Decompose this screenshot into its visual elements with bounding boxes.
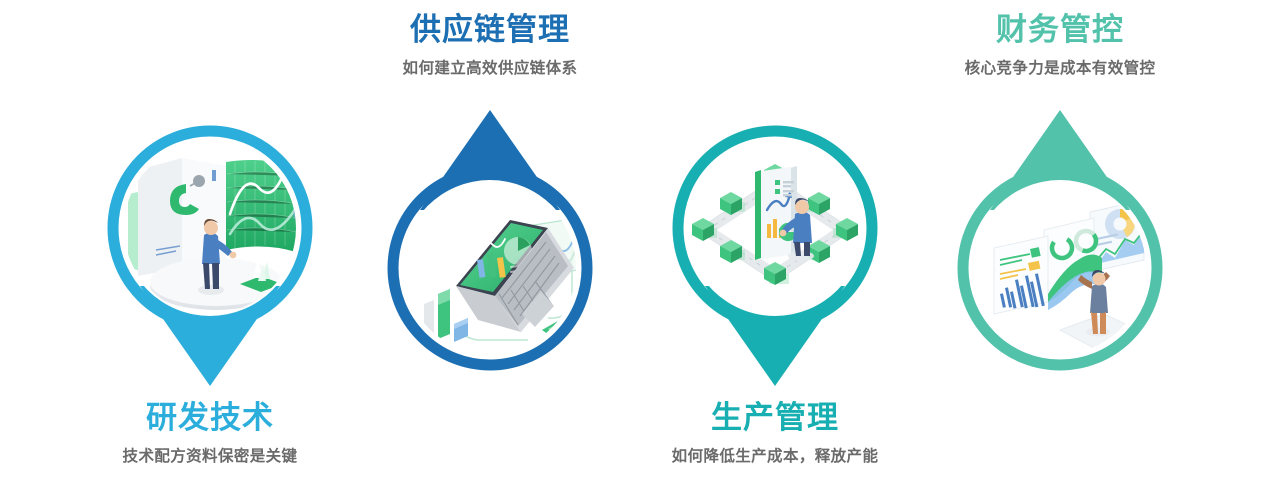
item-subtitle: 核心竞争力是成本有效管控: [910, 56, 1210, 82]
pin-marker-rd-technology[interactable]: [98, 118, 323, 388]
pin-marker-financial-control[interactable]: [948, 108, 1173, 378]
caption-block: 生产管理 如何降低生产成本，释放产能: [625, 398, 925, 470]
item-subtitle: 如何建立高效供应链体系: [340, 56, 640, 82]
caption-block: 供应链管理 如何建立高效供应链体系: [340, 10, 640, 82]
item-subtitle: 技术配方资料保密是关键: [60, 444, 360, 470]
item-title: 生产管理: [625, 398, 925, 438]
item-subtitle: 如何降低生产成本，释放产能: [625, 444, 925, 470]
caption-block: 财务管控 核心竞争力是成本有效管控: [910, 10, 1210, 82]
item-title: 供应链管理: [340, 10, 640, 50]
caption-block: 研发技术 技术配方资料保密是关键: [60, 398, 360, 470]
pin-marker-production-management[interactable]: [663, 118, 888, 388]
item-title: 财务管控: [910, 10, 1210, 50]
item-title: 研发技术: [60, 398, 360, 438]
infographic-canvas: 研发技术 技术配方资料保密是关键: [0, 0, 1263, 488]
pin-marker-supply-chain-management[interactable]: [378, 108, 603, 378]
